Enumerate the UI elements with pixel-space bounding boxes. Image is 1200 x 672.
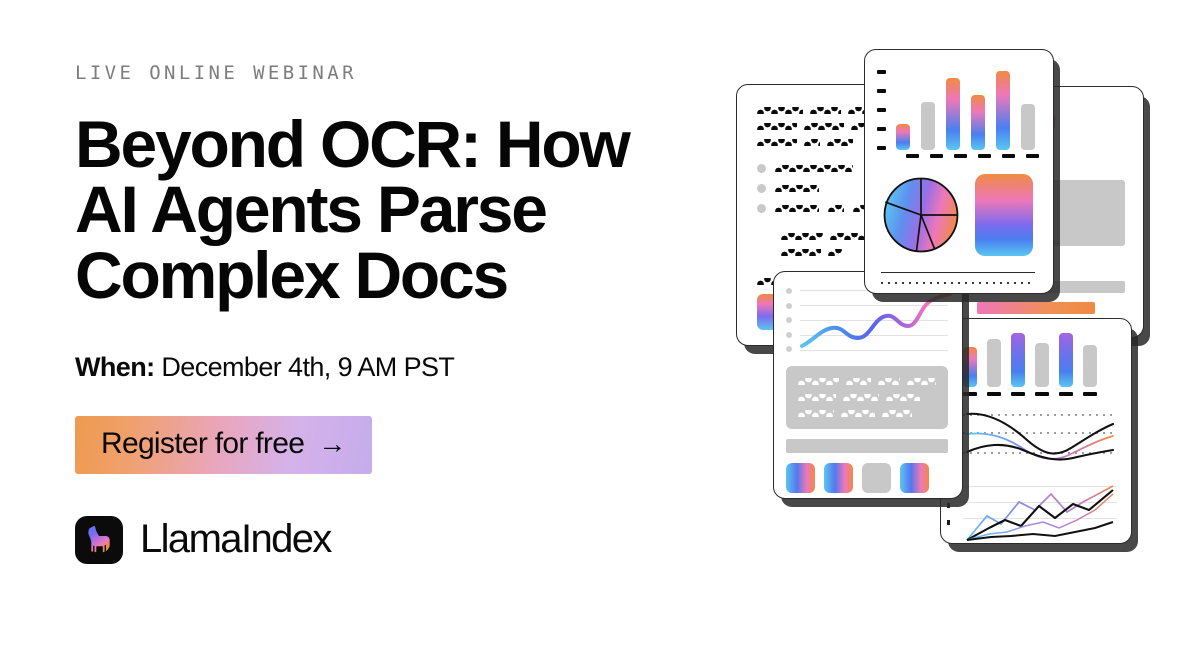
- headline-line-1: Beyond OCR: How: [75, 112, 695, 177]
- axis-tick: [877, 89, 886, 93]
- bar: [946, 78, 960, 150]
- gradient-bar: [977, 302, 1095, 314]
- text-rule: [881, 272, 1035, 273]
- axis-tick: [1083, 392, 1097, 396]
- swatch-row: [786, 463, 948, 493]
- bar-chart: [963, 333, 1117, 387]
- bar-chart: [877, 66, 1039, 150]
- axis-tick: [1059, 392, 1073, 396]
- axis-dot: [786, 288, 792, 294]
- gradient-swatch: [824, 463, 853, 493]
- promo-text-column: LIVE ONLINE WEBINAR Beyond OCR: How AI A…: [75, 62, 695, 564]
- list-bullet: [757, 184, 766, 193]
- cta-container: Register for free →: [75, 416, 695, 474]
- callout-block: [786, 366, 948, 429]
- axis-dot: [786, 332, 792, 338]
- pie-chart: [883, 177, 959, 253]
- bar: [1035, 343, 1049, 387]
- axis-dot: [786, 346, 792, 352]
- event-datetime: When: December 4th, 9 AM PST: [75, 352, 695, 383]
- axis-dot: [786, 303, 792, 309]
- axis-tick: [877, 70, 886, 74]
- gray-swatch: [862, 463, 891, 493]
- bar: [1011, 333, 1025, 387]
- text-rule-dotted: [881, 282, 1035, 284]
- axis-tick: [1011, 392, 1025, 396]
- axis-tick: [906, 154, 919, 158]
- axis-tick: [1002, 154, 1015, 158]
- arrow-right-icon: →: [318, 430, 345, 458]
- bar: [996, 71, 1010, 150]
- jagged-line-chart: [963, 482, 1117, 544]
- eyebrow-label: LIVE ONLINE WEBINAR: [75, 62, 695, 84]
- bar: [1059, 333, 1073, 387]
- register-button[interactable]: Register for free →: [75, 416, 372, 474]
- line-chart: [786, 288, 948, 354]
- axis-tick: [1035, 392, 1049, 396]
- axis-tick: [930, 154, 943, 158]
- brand-name: LlamaIndex: [140, 517, 331, 562]
- document-illustration: [718, 46, 1188, 646]
- axis-tick: [877, 108, 886, 112]
- smooth-line-chart: [963, 408, 1117, 470]
- when-label: When:: [75, 352, 154, 382]
- headline-line-2: AI Agents Parse: [75, 177, 695, 242]
- text-rule: [881, 293, 1035, 294]
- headline-line-3: Complex Docs: [75, 243, 695, 308]
- card-chart-document: [864, 49, 1054, 294]
- axis-tick: [1026, 154, 1039, 158]
- card-analytics-document: [773, 271, 963, 499]
- card-dashboard-document: [940, 318, 1132, 544]
- axis-tick: [987, 392, 1001, 396]
- axis-dot: [786, 317, 792, 323]
- axis-tick: [877, 146, 886, 150]
- bar: [896, 124, 910, 150]
- axis-tick: [954, 154, 967, 158]
- bar: [1083, 345, 1097, 387]
- llama-icon: [75, 516, 123, 564]
- page-title: Beyond OCR: How AI Agents Parse Complex …: [75, 112, 695, 308]
- axis-tick: [978, 154, 991, 158]
- webinar-promo-banner: LIVE ONLINE WEBINAR Beyond OCR: How AI A…: [0, 0, 1200, 672]
- gradient-swatch: [900, 463, 929, 493]
- axis-tick: [877, 127, 886, 131]
- bar: [963, 347, 977, 387]
- bar: [971, 95, 985, 150]
- when-value: December 4th, 9 AM PST: [154, 352, 454, 382]
- bar: [987, 339, 1001, 387]
- bar: [921, 102, 935, 150]
- axis-tick: [963, 392, 977, 396]
- gray-bar: [786, 439, 948, 453]
- brand-logo[interactable]: LlamaIndex: [75, 516, 695, 564]
- register-button-label: Register for free: [101, 427, 304, 461]
- list-bullet: [757, 164, 766, 173]
- bar: [1021, 104, 1035, 150]
- gradient-swatch: [786, 463, 815, 493]
- gradient-block: [975, 174, 1033, 256]
- list-bullet: [757, 204, 766, 213]
